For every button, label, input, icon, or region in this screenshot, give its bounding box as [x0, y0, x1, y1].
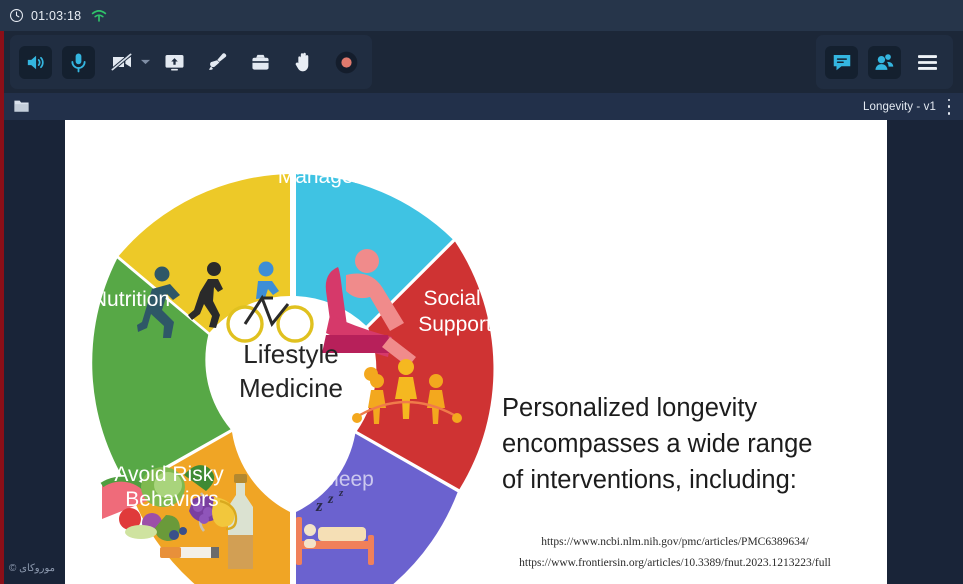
- microphone-icon: [67, 51, 90, 74]
- watermark: موروکای ©: [9, 563, 55, 574]
- left-edge-strip: [0, 31, 4, 584]
- toolbar-left-group: [10, 35, 372, 89]
- wifi-signal-icon: [91, 9, 107, 23]
- document-title[interactable]: Longevity - v1: [863, 101, 936, 113]
- chart-center-line1: Lifestyle: [243, 339, 338, 369]
- speaker-button[interactable]: [19, 46, 52, 79]
- kebab-menu-icon[interactable]: [943, 97, 955, 117]
- toolbar-right-group: [816, 35, 953, 89]
- presentation-slide: z z z: [65, 120, 887, 584]
- camera-dropdown-toggle[interactable]: [139, 47, 151, 77]
- slide-citations: https://www.ncbi.nlm.nih.gov/pmc/article…: [465, 532, 885, 574]
- share-screen-button[interactable]: [158, 46, 191, 79]
- svg-text:z: z: [327, 492, 334, 507]
- body-line-2: encompasses a wide range: [502, 426, 872, 462]
- clock-icon: [9, 8, 24, 23]
- slide-stage: z z z: [4, 120, 963, 584]
- status-bar: 01:03:18: [0, 0, 963, 31]
- speaker-icon: [24, 51, 47, 74]
- chart-label-stress-management: Stress Management: [278, 139, 401, 188]
- screen-share-icon: [163, 51, 186, 74]
- tab-right-group: Longevity - v1: [863, 93, 955, 120]
- whiteboard-button[interactable]: [201, 46, 234, 79]
- session-timer: 01:03:18: [31, 9, 81, 23]
- document-tabstrip: Longevity - v1: [4, 93, 963, 120]
- chart-label-sleep: Sleep: [320, 468, 374, 491]
- svg-text:z: z: [315, 496, 323, 515]
- record-button[interactable]: [330, 46, 363, 79]
- conference-app-window: 01:03:18: [0, 0, 963, 584]
- microphone-button[interactable]: [62, 46, 95, 79]
- camera-off-icon: [110, 50, 134, 74]
- citation-1[interactable]: https://www.ncbi.nlm.nih.gov/pmc/article…: [465, 532, 885, 553]
- chat-button[interactable]: [825, 46, 858, 79]
- participants-button[interactable]: [868, 46, 901, 79]
- briefcase-button[interactable]: [244, 46, 277, 79]
- body-line-3: of interventions, including:: [502, 462, 872, 498]
- chat-icon: [831, 51, 853, 73]
- briefcase-icon: [249, 51, 272, 74]
- camera-off-button[interactable]: [105, 46, 138, 79]
- lifestyle-medicine-donut-chart: z z z: [65, 120, 578, 584]
- slide-body-text: Personalized longevity encompasses a wid…: [502, 390, 872, 498]
- chevron-down-icon: [141, 59, 150, 65]
- hand-icon: [292, 51, 315, 74]
- chart-label-nutrition: Nutrition: [92, 288, 170, 311]
- citation-2[interactable]: https://www.frontiersin.org/articles/10.…: [465, 553, 885, 574]
- participants-icon: [874, 51, 896, 73]
- menu-button[interactable]: [911, 46, 944, 79]
- brush-icon: [206, 51, 229, 74]
- chart-label-exercise: Exercise: [164, 139, 245, 162]
- body-line-1: Personalized longevity: [502, 390, 872, 426]
- record-icon: [334, 50, 359, 75]
- chart-center-line2: Medicine: [239, 373, 343, 403]
- main-toolbar: [4, 31, 963, 93]
- hamburger-icon: [916, 53, 939, 72]
- folder-icon[interactable]: [13, 98, 30, 114]
- raise-hand-button[interactable]: [287, 46, 320, 79]
